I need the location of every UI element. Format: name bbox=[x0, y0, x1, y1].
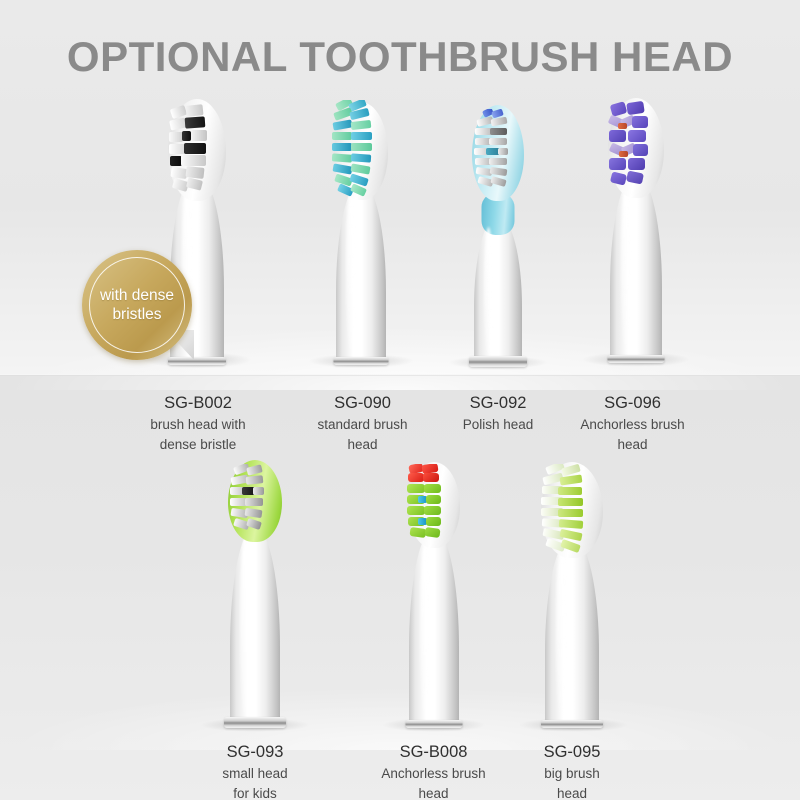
neck-highlight bbox=[240, 538, 250, 716]
product-image-sg-093 bbox=[212, 460, 298, 728]
label-sg-090: SG-090 standard brush head bbox=[285, 393, 440, 454]
neck-highlight bbox=[556, 548, 567, 718]
product-desc-line2: dense bristle bbox=[118, 436, 278, 454]
product-image-sg-095 bbox=[526, 462, 618, 728]
product-image-canvas: OPTIONAL TOOTHBRUSH HEAD with dense bris… bbox=[0, 0, 800, 800]
bristle-field-sg-090 bbox=[332, 100, 378, 198]
neck-highlight bbox=[420, 542, 430, 718]
product-desc-line1: standard brush bbox=[285, 416, 440, 434]
product-code: SG-093 bbox=[180, 742, 330, 763]
label-sg-b008: SG-B008 Anchorless brush head bbox=[356, 742, 511, 800]
label-sg-096: SG-096 Anchorless brush head bbox=[555, 393, 710, 454]
product-code: SG-096 bbox=[555, 393, 710, 414]
badge-line-2: bristles bbox=[82, 305, 192, 324]
page-title: OPTIONAL TOOTHBRUSH HEAD bbox=[0, 33, 800, 81]
product-code: SG-095 bbox=[497, 742, 647, 763]
product-image-sg-b008 bbox=[392, 462, 476, 728]
product-desc-line1: Anchorless brush bbox=[356, 765, 511, 783]
product-desc-line1: brush head with bbox=[118, 416, 278, 434]
product-code: SG-B002 bbox=[118, 393, 278, 414]
product-code: SG-090 bbox=[285, 393, 440, 414]
label-sg-b002: SG-B002 brush head with dense bristle bbox=[118, 393, 278, 454]
badge-line-1: with dense bbox=[82, 286, 192, 305]
product-desc-line1: big brush bbox=[497, 765, 647, 783]
row-divider bbox=[0, 374, 800, 376]
product-desc-line2: head bbox=[356, 785, 511, 800]
brush-neck bbox=[610, 175, 662, 363]
product-desc-line1: Anchorless brush bbox=[555, 416, 710, 434]
product-image-sg-092 bbox=[458, 105, 538, 367]
product-code: SG-092 bbox=[423, 393, 573, 414]
bristle-field-sg-095 bbox=[540, 464, 594, 556]
bristle-field-sg-b002 bbox=[169, 103, 215, 199]
product-desc-line1: Polish head bbox=[423, 416, 573, 434]
product-desc-line2: for kids bbox=[180, 785, 330, 800]
brush-base-ring bbox=[469, 356, 527, 367]
brush-base-ring bbox=[224, 717, 286, 728]
neck-highlight bbox=[621, 181, 631, 349]
product-desc-line2: head bbox=[285, 436, 440, 454]
dense-bristles-badge: with dense bristles bbox=[82, 250, 192, 360]
product-image-sg-096 bbox=[592, 95, 680, 363]
badge-text: with dense bristles bbox=[82, 286, 192, 324]
neck-highlight bbox=[346, 190, 356, 352]
brush-base-ring bbox=[168, 357, 226, 365]
product-desc-line2: head bbox=[497, 785, 647, 800]
product-desc-line2: head bbox=[555, 436, 710, 454]
brush-base-ring bbox=[406, 720, 463, 728]
product-image-sg-090 bbox=[318, 100, 404, 365]
brush-base-ring bbox=[608, 355, 665, 363]
label-sg-092: SG-092 Polish head bbox=[423, 393, 573, 436]
neck-highlight bbox=[484, 227, 493, 355]
product-desc-line1: small head bbox=[180, 765, 330, 783]
bristle-field-sg-092 bbox=[473, 109, 517, 197]
bristle-field-sg-096 bbox=[607, 101, 653, 195]
brush-neck bbox=[230, 528, 280, 728]
brush-base-ring bbox=[541, 720, 603, 728]
brush-neck bbox=[409, 530, 459, 728]
brush-neck bbox=[474, 217, 522, 367]
bristle-field-sg-b008 bbox=[406, 464, 450, 544]
bristle-field-sg-093 bbox=[228, 464, 272, 538]
product-code: SG-B008 bbox=[356, 742, 511, 763]
label-sg-095: SG-095 big brush head bbox=[497, 742, 647, 800]
brush-neck bbox=[545, 538, 599, 728]
brush-base-ring bbox=[334, 357, 389, 365]
brush-neck bbox=[336, 183, 386, 365]
label-sg-093: SG-093 small head for kids bbox=[180, 742, 330, 800]
